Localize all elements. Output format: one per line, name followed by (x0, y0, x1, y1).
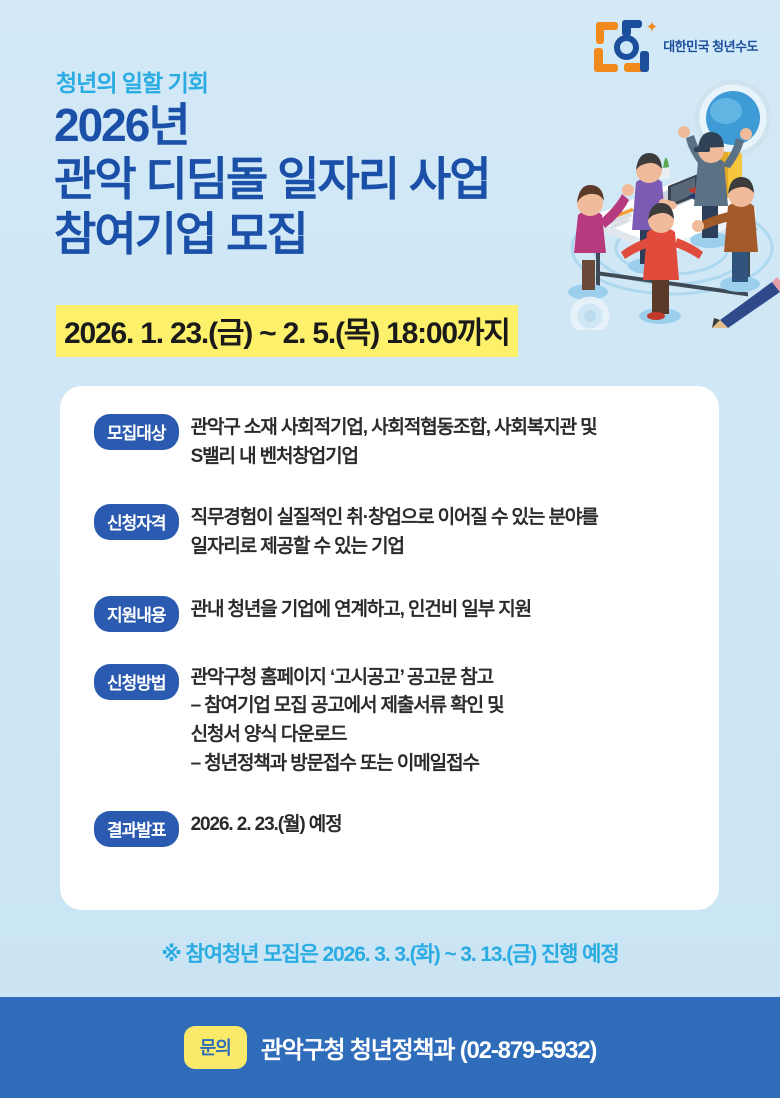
details-card: 모집대상 관악구 소재 사회적기업, 사회적협동조합, 사회복지관 및 S밸리 … (60, 386, 719, 910)
detail-text-qualification: 직무경험이 실질적인 취·창업으로 이어질 수 있는 분야를 일자리로 제공할 … (191, 502, 598, 562)
contact-text: 관악구청 청년정책과 (02-879-5932) (261, 1030, 596, 1065)
sparkle-icon: ✦ (646, 20, 659, 35)
footnote-text: ※ 참여청년 모집은 2026. 3. 3.(화) ~ 3. 13.(금) 진행… (0, 938, 780, 968)
gwanak-logo-mark-icon: ✦ (594, 18, 656, 76)
gear-icon (574, 300, 606, 330)
badge-qualification: 신청자격 (94, 504, 179, 540)
detail-row-result: 결과발표 2026. 2. 23.(월) 예정 (94, 809, 699, 847)
detail-text-result: 2026. 2. 23.(월) 예정 (191, 809, 342, 840)
poster-root: ✦ 대한민국 청년수도 청년의 일할 기회 2026년 관악 디딤돌 일자리 사… (0, 0, 780, 1098)
detail-row-how-to-apply: 신청방법 관악구청 홈페이지 ‘고시공고’ 공고문 참고 – 참여기업 모집 공… (94, 662, 699, 780)
eyebrow-text: 청년의 일할 기회 (56, 64, 208, 98)
application-period-highlight: 2026. 1. 23.(금) ~ 2. 5.(목) 18:00까지 (56, 305, 518, 357)
detail-text-support: 관내 청년을 기업에 연계하고, 인건비 일부 지원 (191, 594, 531, 625)
detail-text-target: 관악구 소재 사회적기업, 사회적협동조합, 사회복지관 및 S밸리 내 벤처창… (191, 412, 597, 472)
contact-footer: 문의 관악구청 청년정책과 (02-879-5932) (0, 997, 780, 1098)
detail-row-qualification: 신청자격 직무경험이 실질적인 취·창업으로 이어질 수 있는 분야를 일자리로… (94, 502, 699, 562)
detail-text-how-to-apply: 관악구청 홈페이지 ‘고시공고’ 공고문 참고 – 참여기업 모집 공고에서 제… (191, 662, 504, 780)
page-title: 2026년 관악 디딤돌 일자리 사업 참여기업 모집 (54, 98, 490, 261)
gwanak-logo: ✦ 대한민국 청년수도 (594, 18, 758, 76)
badge-target: 모집대상 (94, 414, 179, 450)
badge-support: 지원내용 (94, 596, 179, 632)
logo-tagline: 대한민국 청년수도 (663, 39, 758, 54)
contact-badge: 문의 (184, 1026, 247, 1069)
details-rows: 모집대상 관악구 소재 사회적기업, 사회적협동조합, 사회복지관 및 S밸리 … (94, 412, 699, 847)
badge-how-to-apply: 신청방법 (94, 664, 179, 700)
badge-result: 결과발표 (94, 811, 179, 847)
detail-row-target: 모집대상 관악구 소재 사회적기업, 사회적협동조합, 사회복지관 및 S밸리 … (94, 412, 699, 472)
person-woman-magenta (568, 184, 634, 300)
detail-row-support: 지원내용 관내 청년을 기업에 연계하고, 인건비 일부 지원 (94, 594, 699, 632)
isometric-office-illustration (560, 70, 780, 330)
